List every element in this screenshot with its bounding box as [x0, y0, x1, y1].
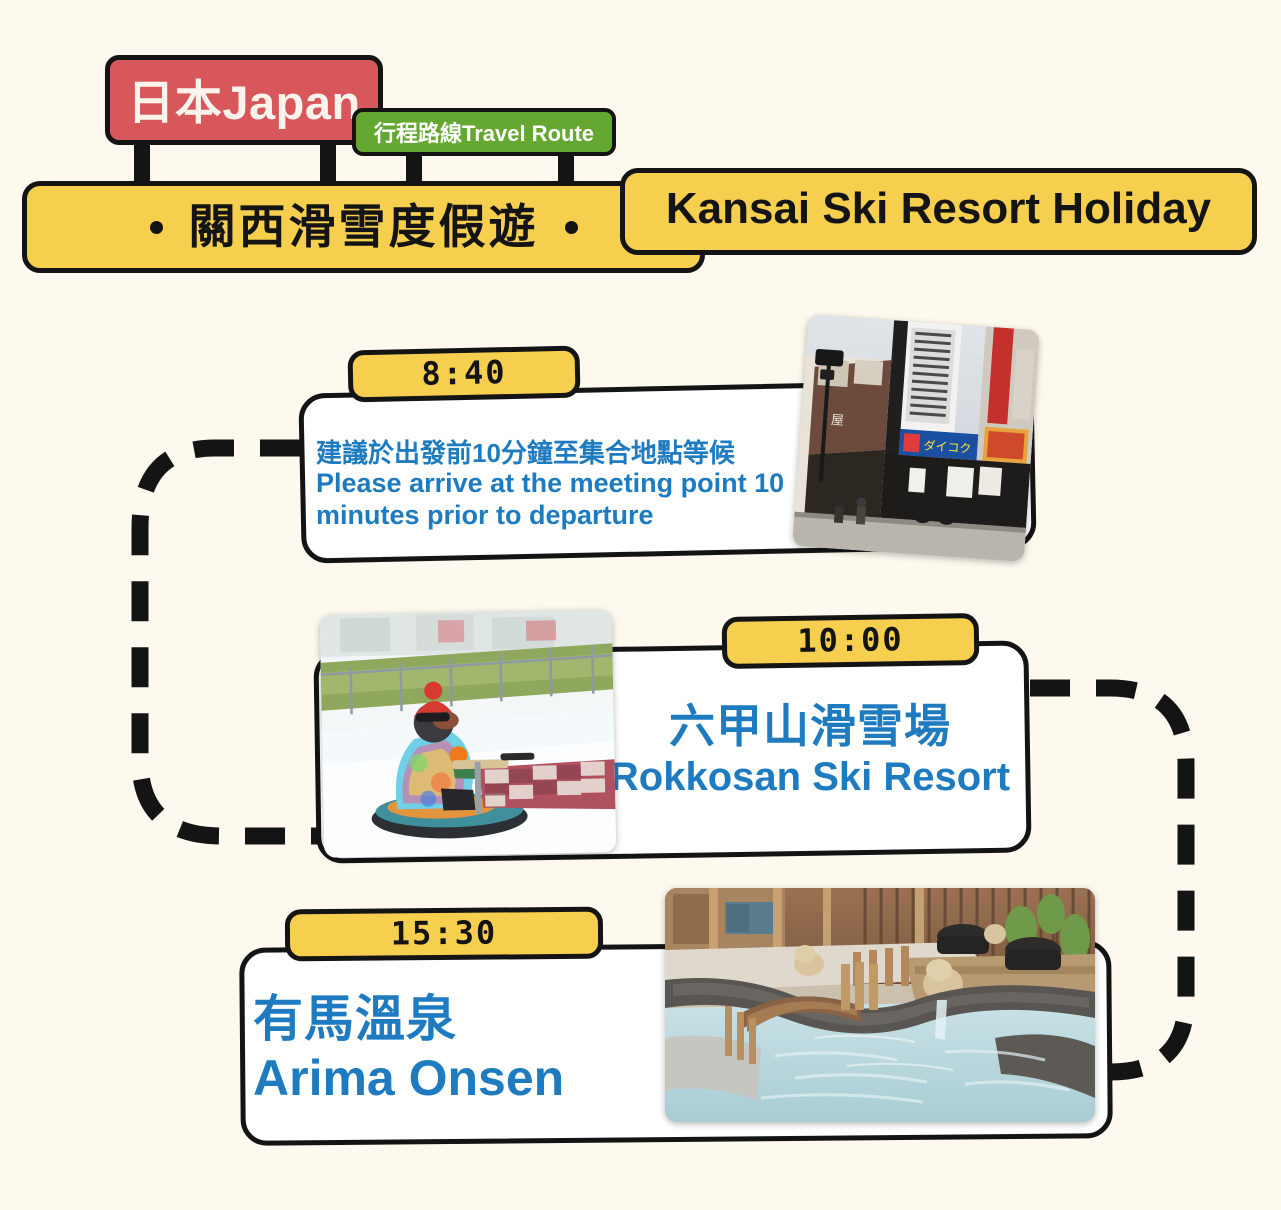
- card-1-line-en: Please arrive at the meeting point 10 mi…: [316, 468, 836, 531]
- title-banner-english: Kansai Ski Resort Holiday: [620, 168, 1257, 255]
- card-3-line-cn: 有馬溫泉: [253, 990, 653, 1049]
- travel-route-sign: 行程路線Travel Route: [352, 108, 616, 156]
- card-2-line-cn: 六甲山滑雪場: [600, 700, 1020, 754]
- page-title-cn: 關西滑雪度假遊: [189, 188, 539, 261]
- svg-text:屋: 屋: [830, 413, 844, 429]
- photo-japanese-street: 屋 ダイコク: [792, 314, 1040, 562]
- country-sign: 日本Japan: [105, 55, 383, 145]
- itinerary-card-2-text: 六甲山滑雪場 Rokkosan Ski Resort: [600, 700, 1020, 801]
- time-badge-1: 8:40: [347, 346, 580, 403]
- bullet-dot-right-icon: [565, 221, 578, 234]
- travel-route-label: 行程路線Travel Route: [374, 116, 594, 148]
- photo-snow-sled-rider: [320, 609, 617, 858]
- time-badge-3-label: 15:30: [391, 914, 498, 953]
- bullet-dot-left-icon: [150, 221, 163, 234]
- card-3-line-en: Arima Onsen: [253, 1049, 653, 1108]
- itinerary-card-1-text: 建議於出發前10分鐘至集合地點等候 Please arrive at the m…: [316, 438, 836, 532]
- page-title-en: Kansai Ski Resort Holiday: [666, 184, 1211, 234]
- country-sign-label: 日本Japan: [127, 64, 360, 133]
- header-signpost: 日本Japan 行程路線Travel Route 關西滑雪度假遊 Kansai …: [0, 0, 1281, 300]
- title-banner-chinese: 關西滑雪度假遊: [22, 181, 705, 273]
- photo-arima-onsen: [665, 888, 1095, 1122]
- time-badge-1-label: 8:40: [421, 353, 507, 393]
- time-badge-2: 10:00: [722, 613, 980, 669]
- itinerary-card-3-text: 有馬溫泉 Arima Onsen: [253, 990, 653, 1107]
- time-badge-2-label: 10:00: [797, 620, 904, 660]
- card-1-line-cn: 建議於出發前10分鐘至集合地點等候: [316, 438, 836, 468]
- card-2-line-en: Rokkosan Ski Resort: [600, 754, 1020, 801]
- time-badge-3: 15:30: [285, 907, 603, 962]
